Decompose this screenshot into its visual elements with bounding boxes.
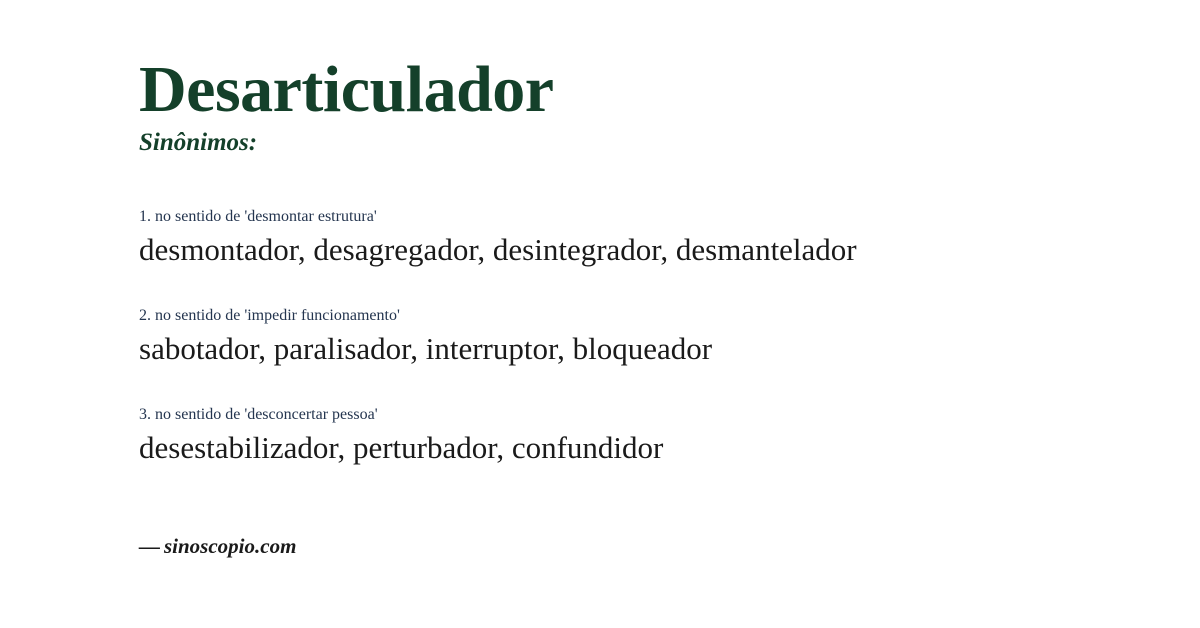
source-attribution: —sinoscopio.com bbox=[139, 534, 296, 559]
card-header: Desarticulador Sinônimos: bbox=[139, 0, 1140, 157]
sense-synonyms-1: desmontador, desagregador, desintegrador… bbox=[139, 231, 1140, 268]
sense-label-2: 2. no sentido de 'impedir funcionamento' bbox=[139, 306, 1140, 326]
sense-list: 1. no sentido de 'desmontar estrutura' d… bbox=[139, 207, 1140, 467]
sense-synonyms-2: sabotador, paralisador, interruptor, blo… bbox=[139, 330, 1140, 367]
page-title: Desarticulador bbox=[139, 56, 1140, 123]
card-footer: —sinoscopio.com bbox=[139, 534, 296, 559]
sense-block-1: 1. no sentido de 'desmontar estrutura' d… bbox=[139, 207, 1140, 268]
sense-label-1: 1. no sentido de 'desmontar estrutura' bbox=[139, 207, 1140, 227]
em-dash: — bbox=[139, 534, 160, 558]
source-name: sinoscopio.com bbox=[164, 534, 296, 558]
sense-synonyms-3: desestabilizador, perturbador, confundid… bbox=[139, 429, 1140, 466]
subtitle-synonyms: Sinônimos: bbox=[139, 129, 1140, 157]
synonym-card: Desarticulador Sinônimos: 1. no sentido … bbox=[0, 0, 1200, 628]
sense-label-3: 3. no sentido de 'desconcertar pessoa' bbox=[139, 405, 1140, 425]
sense-block-3: 3. no sentido de 'desconcertar pessoa' d… bbox=[139, 405, 1140, 466]
sense-block-2: 2. no sentido de 'impedir funcionamento'… bbox=[139, 306, 1140, 367]
